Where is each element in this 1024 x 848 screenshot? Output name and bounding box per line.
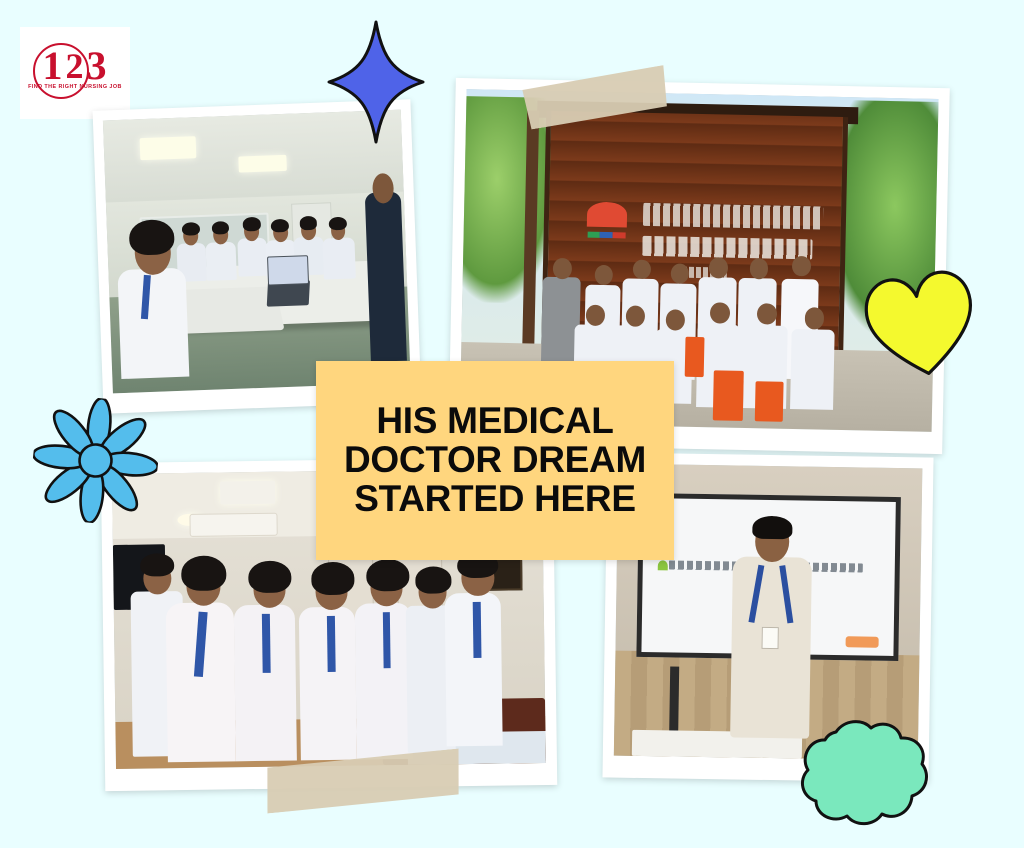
page-title: HIS MEDICAL DOCTOR DREAM STARTED HERE: [336, 402, 654, 519]
student-hair: [415, 567, 452, 594]
four-point-star-icon: [326, 20, 426, 144]
laptop-screen: [267, 255, 309, 286]
cloud-blob-icon: [798, 718, 930, 830]
brand-logo: 1 2 3 FIND THE RIGHT NURSING JOB: [20, 27, 130, 119]
group-student: [790, 329, 834, 410]
student-hair: [366, 558, 409, 591]
group-student-head: [670, 263, 688, 283]
ceiling-vent: [219, 481, 275, 505]
signboard-english-text: [643, 236, 813, 260]
student-hair: [181, 555, 227, 591]
orange-tote-bag: [755, 382, 784, 423]
student-hair: [311, 562, 354, 595]
id-badge: [761, 626, 779, 649]
screen-accent-button: [845, 637, 878, 648]
presenter-hair: [753, 515, 793, 539]
logo-digit-1: 1: [43, 46, 64, 86]
foreground-student: [117, 268, 189, 380]
logo-mark: 1 2 3 FIND THE RIGHT NURSING JOB: [25, 37, 125, 109]
screen-stand: [669, 666, 679, 730]
logo-digit-3: 3: [87, 46, 108, 86]
seated-student: [237, 237, 268, 276]
headline-card: HIS MEDICAL DOCTOR DREAM STARTED HERE: [316, 361, 674, 560]
lanyard: [327, 615, 336, 671]
logo-tagline: FIND THE RIGHT NURSING JOB: [25, 84, 125, 90]
logo-bar-blue: [600, 232, 613, 238]
headline-line-1: HIS MEDICAL: [344, 402, 646, 441]
lanyard: [473, 602, 482, 658]
foreground-student-hair: [129, 219, 175, 256]
instructor-body: [365, 192, 407, 362]
seated-student-hair: [299, 216, 317, 230]
ceiling-light: [139, 136, 196, 160]
logo-digit-2: 2: [66, 48, 85, 84]
ceiling-light: [238, 155, 286, 173]
heart-icon: [854, 259, 988, 388]
meeting-room-scene: [103, 110, 411, 394]
logo-color-bars: [587, 232, 626, 238]
signboard-khmer-text: [643, 203, 823, 230]
seated-student: [322, 237, 356, 279]
student-hair: [248, 560, 291, 593]
lanyard: [262, 613, 271, 672]
logo-bar-red: [613, 232, 626, 238]
collage-canvas: 1 2 3 FIND THE RIGHT NURSING JOB: [0, 0, 1024, 848]
seated-student-hair: [182, 222, 200, 236]
orange-tote-bag: [685, 337, 705, 377]
flower-icon: [27, 392, 164, 529]
air-conditioner: [190, 513, 278, 537]
logo-bar-green: [587, 232, 600, 238]
lanyard: [383, 612, 392, 668]
seated-student: [206, 241, 237, 280]
photo-meeting-room-image: [103, 110, 411, 394]
seated-student-hair: [242, 217, 260, 231]
instructor-head: [372, 173, 394, 204]
headline-line-2: DOCTOR DREAM: [344, 441, 646, 480]
staff-head: [552, 257, 571, 279]
logo-sunrise-arc: [587, 202, 628, 228]
hospital-logo-icon: [586, 202, 627, 243]
group-student-head: [586, 305, 605, 326]
student-hair: [140, 553, 175, 577]
logo-arc-icon: [658, 560, 668, 571]
screen-logo-sunrise-japan-hospital: [658, 560, 744, 572]
orange-tote-bag: [712, 371, 744, 422]
headline-line-3: STARTED HERE: [344, 480, 646, 519]
